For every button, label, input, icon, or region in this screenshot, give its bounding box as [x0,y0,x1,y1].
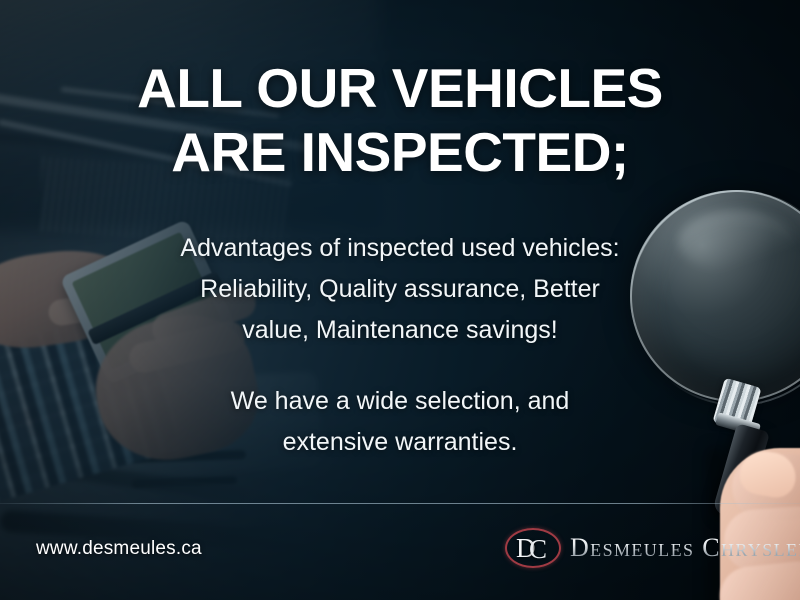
dealer-wordmark: Desmeules Chrysler [570,533,800,563]
body-line-3: value, Maintenance savings! [0,310,800,351]
dc-monogram-icon: D C [505,528,561,568]
footer-divider [0,503,800,504]
body-copy: Advantages of inspected used vehicles: R… [0,228,800,463]
body-line-2: Reliability, Quality assurance, Better [0,269,800,310]
dealer-logo[interactable]: D C Desmeules Chrysler [505,528,800,568]
website-url[interactable]: www.desmeules.ca [36,538,202,560]
body-line-5: extensive warranties. [0,422,800,463]
body-line-1: Advantages of inspected used vehicles: [0,228,800,269]
monogram-letter-c: C [529,529,547,569]
headline-line-1: ALL OUR VEHICLES [137,57,663,119]
body-line-4: We have a wide selection, and [0,381,800,422]
headline-line-2: ARE INSPECTED; [0,120,800,184]
headline: ALL OUR VEHICLES ARE INSPECTED; [0,56,800,184]
promo-banner: ALL OUR VEHICLES ARE INSPECTED; Advantag… [0,0,800,600]
